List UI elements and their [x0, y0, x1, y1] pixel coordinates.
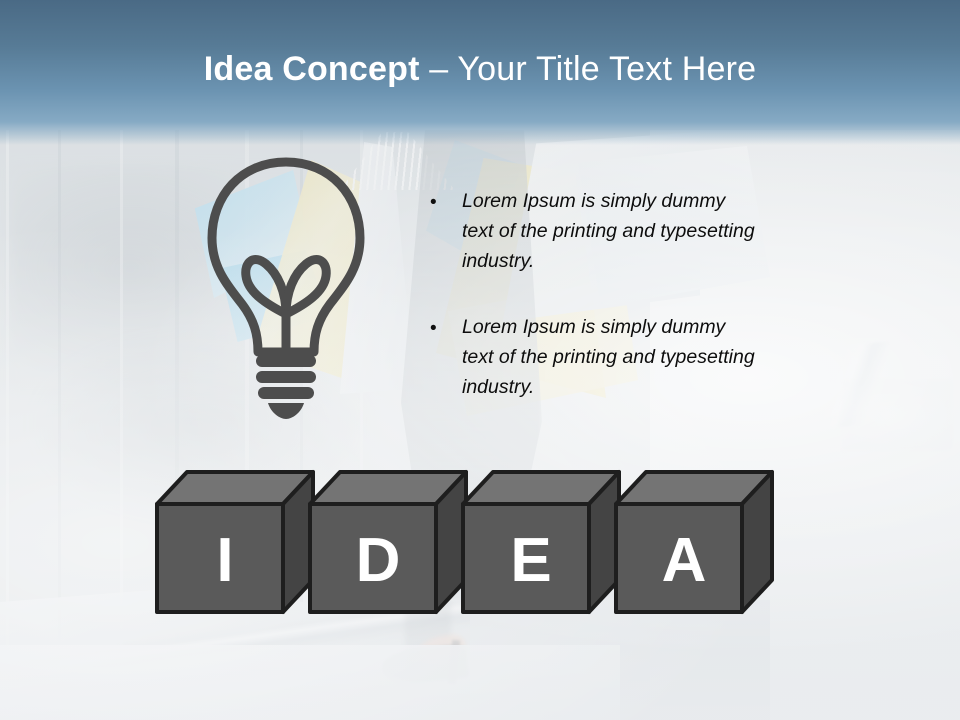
bullet-text: Lorem Ipsum is simply dummy text of the … [462, 186, 760, 276]
bullet-marker: • [430, 312, 462, 344]
list-item: • Lorem Ipsum is simply dummy text of th… [430, 186, 760, 276]
cube-letter-4: A [614, 468, 774, 616]
bullet-list: • Lorem Ipsum is simply dummy text of th… [430, 186, 760, 438]
title-rest-part: – Your Title Text Here [420, 50, 757, 88]
idea-cubes-group: I D E A [155, 468, 775, 616]
cube-letter-2: D [308, 468, 468, 616]
lightbulb-icon [196, 152, 376, 420]
slide: Idea Concept – Your Title Text Here • [0, 0, 960, 720]
page-title: Idea Concept – Your Title Text Here [0, 50, 960, 89]
list-item: • Lorem Ipsum is simply dummy text of th… [430, 312, 760, 402]
cube-letter-1: I [155, 468, 315, 616]
title-bold-part: Idea Concept [204, 50, 420, 88]
bullet-marker: • [430, 186, 462, 218]
cube-letter-3: E [461, 468, 621, 616]
bullet-text: Lorem Ipsum is simply dummy text of the … [462, 312, 760, 402]
